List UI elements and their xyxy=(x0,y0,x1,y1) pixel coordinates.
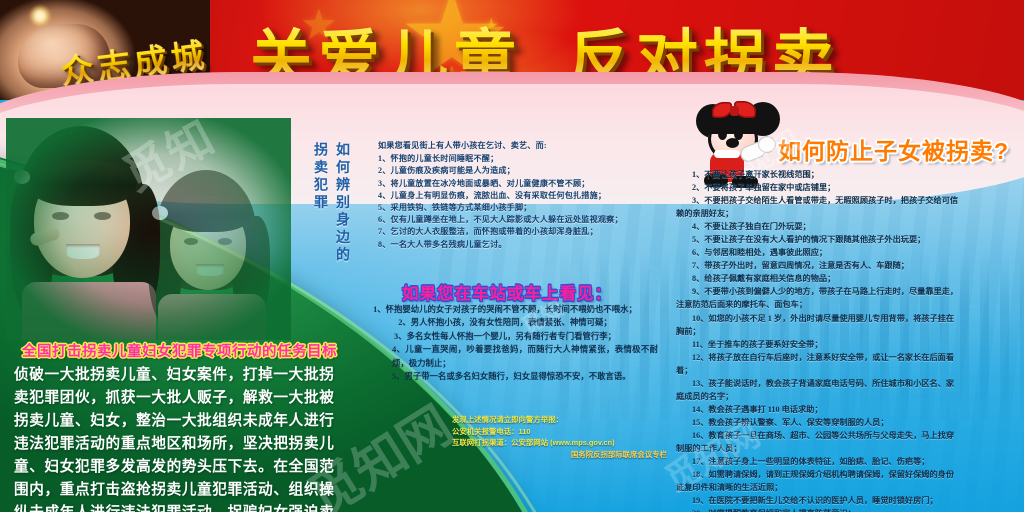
left-body-text: 侦破一大批拐卖儿童、妇女案件，打掉一大批拐卖犯罪团伙，抓获一大批人贩子，解救一大… xyxy=(14,364,334,512)
list-item: 14、教会孩子遇事打 110 电话求助； xyxy=(676,403,1018,416)
left-banner-text: 全国打击拐卖儿童妇女犯罪专项行动的任务目标 xyxy=(22,340,318,361)
list-item: 5、采用铁钩、铁链等方式某细小孩手脚； xyxy=(378,202,654,214)
list-item-continuation: 胸前； xyxy=(676,325,1018,338)
eye-shape xyxy=(218,238,232,245)
list-item: 19、在医院不要把新生儿交给不认识的医护人员，睡觉时锁好房门； xyxy=(676,494,1018,507)
list-item: 2、不要将孩子单独留在家中或店铺里； xyxy=(676,181,1018,194)
list-item: 9、不要带小孩到偏僻人少的地方，带孩子在马路上行走时，尽量靠里走， xyxy=(676,285,1018,298)
poster-canvas: ★ ★ ★ ★ ★ 众志成城 关爱儿童反对拐卖 xyxy=(0,0,1024,512)
left-banner: 全国打击拐卖儿童妇女犯罪专项行动的任务目标 xyxy=(22,340,318,362)
face-shape xyxy=(34,170,130,278)
list-item: 16、教育孩子一旦在商场、超市、公园等公共场所与父母走失，马上找穿 xyxy=(676,429,1018,442)
middle-section2-list: 1、怀抱婴幼儿的女子对孩子的哭闹不管不顾，长时间不喂奶也不喂水； 2、男人怀抱小… xyxy=(352,303,658,383)
contact-line-phone: 公安机关报警电话：110 xyxy=(452,426,667,438)
list-item: 4、儿童一直哭闹，吵着要找爸妈，而随行大人神情紧张，表情极不耐烦，极力制止； xyxy=(352,343,658,370)
eye-shape xyxy=(94,212,111,220)
shirt-shape xyxy=(22,282,156,340)
list-item-continuation: 赖的亲朋好友； xyxy=(676,207,1018,220)
hair-side-shape xyxy=(112,184,160,324)
list-item: 2、儿童伤痕及疾病可能是人为造成； xyxy=(378,165,654,177)
middle-section1-list: 如果您看见街上有人带小孩在乞讨、卖艺、而: 1、怀抱的儿童长时间睡眠不醒； 2、… xyxy=(378,140,654,251)
contact-line-authority: 国务院反拐部际联席会议专栏 xyxy=(452,449,667,461)
list-item-continuation: 证复印件和清晰的生活近照； xyxy=(676,481,1018,494)
list-item: 3、不要把孩子交给陌生人看管或带走，无暇照顾孩子时，把孩子交给可信 xyxy=(676,194,1018,207)
list-item: 4、不要让孩子独自在门外玩耍； xyxy=(676,220,1018,233)
vertical-calligraphy-title: 如何辨别身边的拐卖犯罪 xyxy=(308,142,352,268)
right-section-title: 如何防止子女被拐卖? xyxy=(778,132,1009,166)
finger-shape xyxy=(29,226,62,248)
list-item: 12、将孩子放在自行车后座时，注意系好安全带，或让一名家长在后面看 xyxy=(676,351,1018,364)
list-item: 8、一名大人带多名残病儿童乞讨。 xyxy=(378,239,654,251)
face-shape xyxy=(170,204,246,290)
hair-side-shape xyxy=(10,178,54,318)
list-item: 11、坐于推车的孩子要系好安全带； xyxy=(676,338,1018,351)
list-item: 1、怀抱婴幼儿的女子对孩子的哭闹不管不顾，长时间不喂奶也不喂水； xyxy=(352,303,658,316)
middle-section1-lead: 如果您看见街上有人带小孩在乞讨、卖艺、而: xyxy=(378,140,654,152)
list-item: 13、孩子能说话时，教会孩子背诵家庭电话号码、所住城市和小区名、家 xyxy=(676,377,1018,390)
contact-line-website[interactable]: 互联网打拐渠道：公安部网站 (www.mps.gov.cn) xyxy=(452,437,667,449)
collar-shape xyxy=(714,150,740,158)
contact-line-report: 发现上述情况请立即向警方举报： xyxy=(452,414,667,426)
bangs-shape xyxy=(30,160,136,206)
list-item-continuation: 庭成员的名字； xyxy=(676,390,1018,403)
hair-side-shape xyxy=(148,212,182,324)
right-prevention-list: 1、不要让孩子离开家长视线范围； 2、不要将孩子单独留在家中或店铺里； 3、不要… xyxy=(676,168,1018,512)
list-item: 4、儿童身上有明显伤痕，流脓出血、没有采取任何包扎措施； xyxy=(378,190,654,202)
list-item: 3、将儿童放置在冰冷地面或暴晒、对儿童健康不管不顾； xyxy=(378,178,654,190)
list-item: 8、给孩子佩戴有家庭相关信息的物品； xyxy=(676,272,1018,285)
list-item-continuation: 注意防范后面来的摩托车、面包车； xyxy=(676,298,1018,311)
eye-shape xyxy=(718,128,727,140)
list-item: 1、不要让孩子离开家长视线范围； xyxy=(676,168,1018,181)
nose-shape xyxy=(726,138,739,148)
list-item: 18、如需聘请保姆，请到正规保姆介绍机构聘请保姆，保留好保姆的身份 xyxy=(676,468,1018,481)
hair-shape xyxy=(18,126,144,276)
list-item: 1、怀抱的儿童长时间睡眠不醒； xyxy=(378,153,654,165)
bow-center-shape xyxy=(730,106,739,116)
mouth-shape xyxy=(196,264,224,276)
list-item: 2、男人怀抱小孩，没有女性陪同，表情紧张、神情可疑； xyxy=(352,316,658,329)
contact-block: 发现上述情况请立即向警方举报： 公安机关报警电话：110 互联网打拐渠道：公安部… xyxy=(452,414,667,460)
list-item: 7、带孩子外出时，留意四周情况，注意是否有人、车跟随； xyxy=(676,259,1018,272)
list-item: 7、乞讨的大人衣服整洁，而怀抱或带着的小孩却浑身脏乱； xyxy=(378,226,654,238)
shirt-shape xyxy=(158,294,266,340)
child-back xyxy=(148,170,278,340)
list-item: 20、时常提醒教育保姆和家人提高防范意识； xyxy=(676,507,1018,512)
list-item: 6、仅有儿童蹲坐在地上，不见大人踪影或大人躲在远处监视观察； xyxy=(378,214,654,226)
hand-shape xyxy=(758,136,776,153)
hair-bow-icon xyxy=(152,206,168,220)
bangs-shape xyxy=(166,196,250,232)
list-item-continuation: 制服的工作人员； xyxy=(676,442,1018,455)
list-item: 5、男子带一名或多名妇女随行，妇女显得惊恐不安，不敢言语。 xyxy=(352,370,658,383)
hair-shape xyxy=(156,170,256,290)
list-item: 3、多名女性每人怀抱一个婴儿，另有随行者专门看管行李； xyxy=(352,330,658,343)
list-item: 5、不要让孩子在没有大人看护的情况下跟随其他孩子外出玩耍； xyxy=(676,233,1018,246)
list-item: 6、与邻居和睦相处，遇事彼此照应； xyxy=(676,246,1018,259)
eye-shape xyxy=(52,212,69,220)
eye-shape xyxy=(184,238,198,245)
hair-bow-icon xyxy=(14,170,30,184)
middle-section2-title: 如果您在车站或车上看见： xyxy=(382,280,632,304)
list-item-continuation: 着； xyxy=(676,364,1018,377)
child-front xyxy=(8,126,168,340)
mouth-shape xyxy=(66,244,100,259)
list-item: 15、教会孩子辨认警察、军人、保安等穿制服的人员； xyxy=(676,416,1018,429)
list-item: 17、注意孩子身上一些明显的体表特征，如胎痣、胎记、伤疤等； xyxy=(676,455,1018,468)
children-photo xyxy=(6,118,291,340)
list-item: 10、如您的小孩不足 1 岁，外出时请尽量使用婴儿专用背带，将孩子挂在 xyxy=(676,312,1018,325)
hair-side-shape xyxy=(232,216,270,328)
